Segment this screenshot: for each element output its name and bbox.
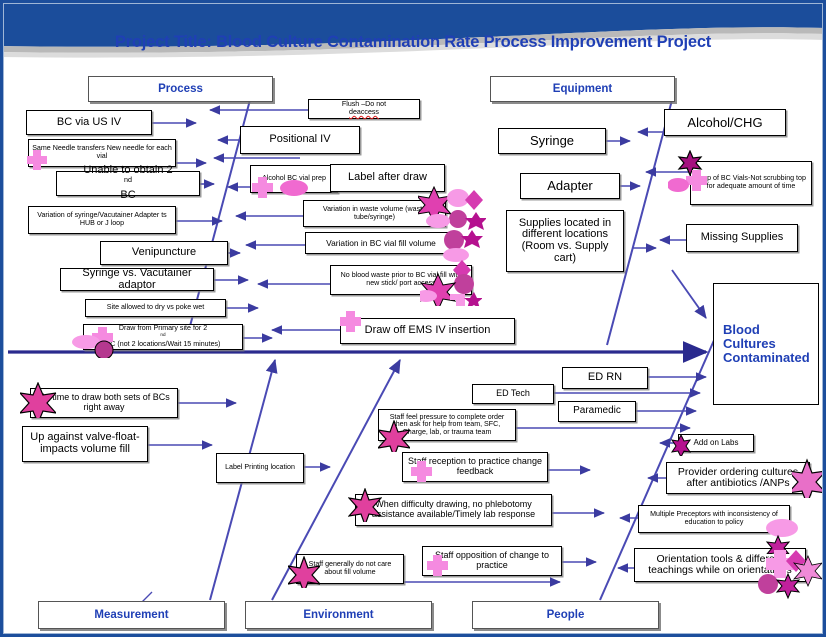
cause-flush-do-not-deaccess[interactable]: Flush –Do not deaccess	[308, 99, 420, 119]
cause-draw-primary-site[interactable]: Draw from Primary site for 2nd BC (not 2…	[83, 324, 243, 350]
cause-venipuncture[interactable]: Venipuncture	[100, 241, 228, 265]
cause-orientation-tools[interactable]: Orientation tools & different teachings …	[634, 548, 806, 582]
cause-no-time-to-draw[interactable]: No time to draw both sets of BCs right a…	[30, 388, 178, 418]
cause-staff-generally-do-not-care[interactable]: Staff generally do not care about fill v…	[296, 554, 404, 584]
cause-ed-tech[interactable]: ED Tech	[472, 384, 554, 404]
cause-staff-feel-pressure[interactable]: Staff feel pressure to complete order th…	[378, 409, 516, 441]
cause-paramedic[interactable]: Paramedic	[558, 401, 636, 422]
cause-supplies-located[interactable]: Supplies located in different locations …	[506, 210, 624, 272]
cause-positional-iv[interactable]: Positional IV	[240, 126, 360, 154]
cause-bc-via-us-iv[interactable]: BC via US IV	[26, 110, 152, 135]
category-people-label: People	[476, 609, 655, 621]
cause-alcohol-bc-vial-prep[interactable]: Alcohol BC vial prep	[250, 165, 338, 193]
category-equipment[interactable]: Equipment	[490, 76, 675, 102]
cause-staff-opposition[interactable]: Staff opposition of change to practice	[422, 546, 562, 576]
cause-adapter[interactable]: Adapter	[520, 173, 620, 199]
cause-site-dry-vs-poke-wet[interactable]: Site allowed to dry vs poke wet	[85, 299, 226, 317]
cause-up-against-valve[interactable]: Up against valve-float-impacts volume fi…	[22, 426, 148, 462]
cause-label-after-draw[interactable]: Label after draw	[330, 164, 445, 192]
cause-no-blood-waste[interactable]: No blood waste prior to BC vial fill wit…	[330, 265, 472, 295]
cause-provider-ordering-cultures[interactable]: Provider ordering cultures after antibio…	[666, 462, 810, 494]
cause-when-difficulty-drawing[interactable]: When difficulty drawing, no phlebotomy a…	[355, 494, 552, 526]
cause-prep-bc-vials[interactable]: Prep of BC Vials-Not scrubbing top for a…	[690, 161, 812, 205]
cause-label-printing-location[interactable]: Label Printing location	[216, 453, 304, 483]
cause-syringe[interactable]: Syringe	[498, 128, 606, 154]
cause-draw-off-ems[interactable]: Draw off EMS IV insertion	[340, 318, 515, 344]
cause-ed-rn[interactable]: ED RN	[562, 367, 648, 389]
cause-unable-obtain-2nd-bc[interactable]: Unable to obtain 2nd BC	[56, 171, 200, 196]
cause-syringe-vs-vacutainer[interactable]: Syringe vs. Vacutainer adaptor	[60, 268, 214, 291]
effect-label: Blood Cultures Contaminated	[723, 323, 815, 364]
category-process-label: Process	[92, 83, 269, 95]
cause-variation-adapter[interactable]: Variation of syringe/Vacutainer Adapter …	[28, 206, 176, 234]
cause-multiple-preceptors[interactable]: Multiple Preceptors with inconsistency o…	[638, 505, 790, 533]
category-measurement-label: Measurement	[42, 609, 221, 621]
cause-missing-supplies[interactable]: Missing Supplies	[686, 224, 798, 252]
slide-canvas: Project Title: Blood Culture Contaminati…	[0, 0, 826, 637]
cause-variation-waste-volume[interactable]: Variation in waste volume (waste tube/sy…	[303, 200, 446, 227]
category-process[interactable]: Process	[88, 76, 273, 102]
cause-same-needle-transfers[interactable]: Same Needle transfers New needle for eac…	[28, 139, 176, 167]
category-people[interactable]: People	[472, 601, 659, 629]
cause-alcohol-chg[interactable]: Alcohol/CHG	[664, 109, 786, 136]
cause-add-on-labs[interactable]: Add on Labs	[678, 434, 754, 452]
cause-variation-bc-fill-volume[interactable]: Variation in BC vial fill volume	[305, 232, 457, 254]
category-environment-label: Environment	[249, 609, 428, 621]
category-environment[interactable]: Environment	[245, 601, 432, 629]
category-measurement[interactable]: Measurement	[38, 601, 225, 629]
category-equipment-label: Equipment	[494, 83, 671, 95]
cause-staff-reception[interactable]: Staff reception to practice change feedb…	[402, 452, 548, 482]
effect-box[interactable]: Blood Cultures Contaminated	[713, 283, 819, 405]
